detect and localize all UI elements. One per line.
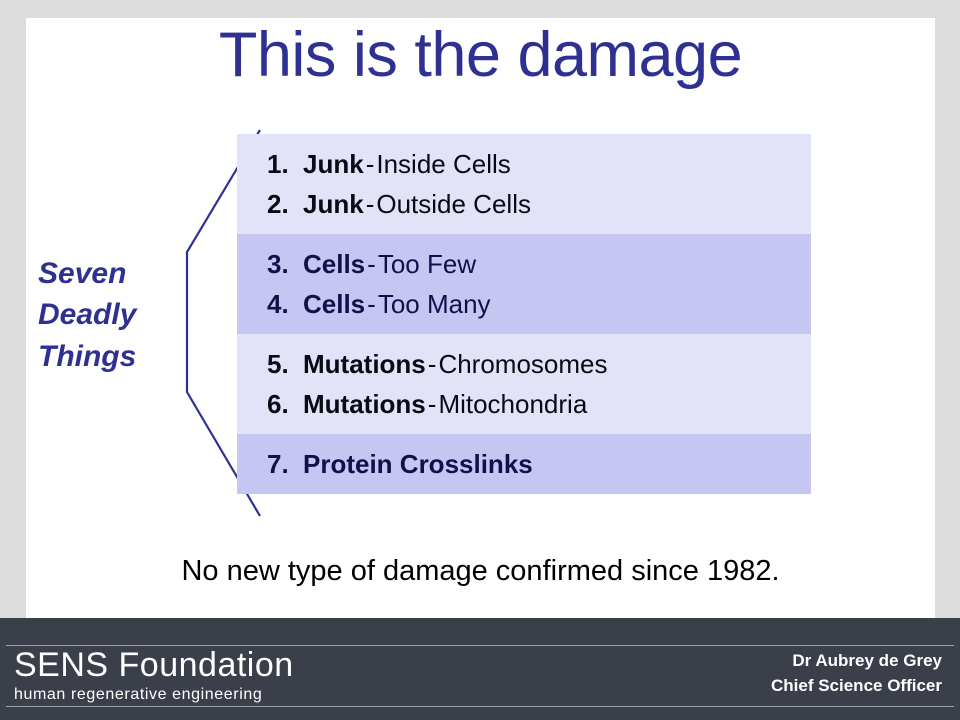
damage-item-term: Junk (303, 151, 364, 177)
damage-row: 3. Cells - Too Few (267, 244, 811, 284)
damage-row: 4. Cells - Too Many (267, 284, 811, 324)
damage-list-table: 1. Junk - Inside Cells 2. Junk - Outside… (237, 134, 811, 494)
slide-root: This is the damage Seven Deadly Things 1… (0, 0, 960, 720)
damage-item-detail: Chromosomes (438, 351, 607, 377)
presenter-name: Dr Aubrey de Grey (771, 649, 942, 674)
bracket-label-line-3: Things (38, 336, 188, 377)
damage-item-detail: Outside Cells (376, 191, 531, 217)
damage-item-number: 7. (267, 451, 303, 477)
brand-name: SENS Foundation (14, 648, 294, 682)
damage-item-detail: Mitochondria (438, 391, 587, 417)
damage-item-term: Mutations (303, 391, 426, 417)
bracket-label-line-1: Seven (38, 253, 188, 294)
brand-tagline: human regenerative engineering (14, 687, 294, 703)
damage-item-detail: Too Few (378, 251, 476, 277)
damage-block: 5. Mutations - Chromosomes 6. Mutations … (237, 334, 811, 434)
damage-row: 6. Mutations - Mitochondria (267, 384, 811, 424)
seven-deadly-things-label: Seven Deadly Things (38, 253, 188, 377)
damage-item-dash: - (426, 351, 439, 377)
bracket-label-line-2: Deadly (38, 294, 188, 335)
damage-block: 3. Cells - Too Few 4. Cells - Too Many (237, 234, 811, 334)
damage-block: 7. Protein Crosslinks (237, 434, 811, 494)
damage-block: 1. Junk - Inside Cells 2. Junk - Outside… (237, 134, 811, 234)
damage-item-term: Junk (303, 191, 364, 217)
presenter-role: Chief Science Officer (771, 674, 942, 699)
damage-item-number: 3. (267, 251, 303, 277)
damage-item-dash: - (365, 291, 378, 317)
sens-foundation-logo: SENS Foundation human regenerative engin… (14, 648, 294, 703)
damage-item-dash: - (364, 191, 377, 217)
damage-item-dash: - (365, 251, 378, 277)
presenter-credit: Dr Aubrey de Grey Chief Science Officer (771, 649, 942, 698)
damage-item-number: 6. (267, 391, 303, 417)
damage-item-number: 2. (267, 191, 303, 217)
damage-item-number: 5. (267, 351, 303, 377)
damage-item-number: 1. (267, 151, 303, 177)
damage-item-dash: - (364, 151, 377, 177)
damage-row: 1. Junk - Inside Cells (267, 144, 811, 184)
damage-row: 7. Protein Crosslinks (267, 444, 811, 484)
slide-footnote: No new type of damage confirmed since 19… (26, 557, 935, 586)
damage-row: 5. Mutations - Chromosomes (267, 344, 811, 384)
damage-item-term: Mutations (303, 351, 426, 377)
damage-item-term: Protein Crosslinks (303, 451, 533, 477)
footer-rule-bottom (6, 706, 954, 707)
page-title: This is the damage (26, 24, 935, 87)
footer-bar: SENS Foundation human regenerative engin… (0, 618, 960, 720)
damage-item-detail: Too Many (378, 291, 491, 317)
damage-item-detail: Inside Cells (376, 151, 510, 177)
damage-item-number: 4. (267, 291, 303, 317)
damage-row: 2. Junk - Outside Cells (267, 184, 811, 224)
damage-item-term: Cells (303, 251, 365, 277)
damage-item-term: Cells (303, 291, 365, 317)
damage-item-dash: - (426, 391, 439, 417)
